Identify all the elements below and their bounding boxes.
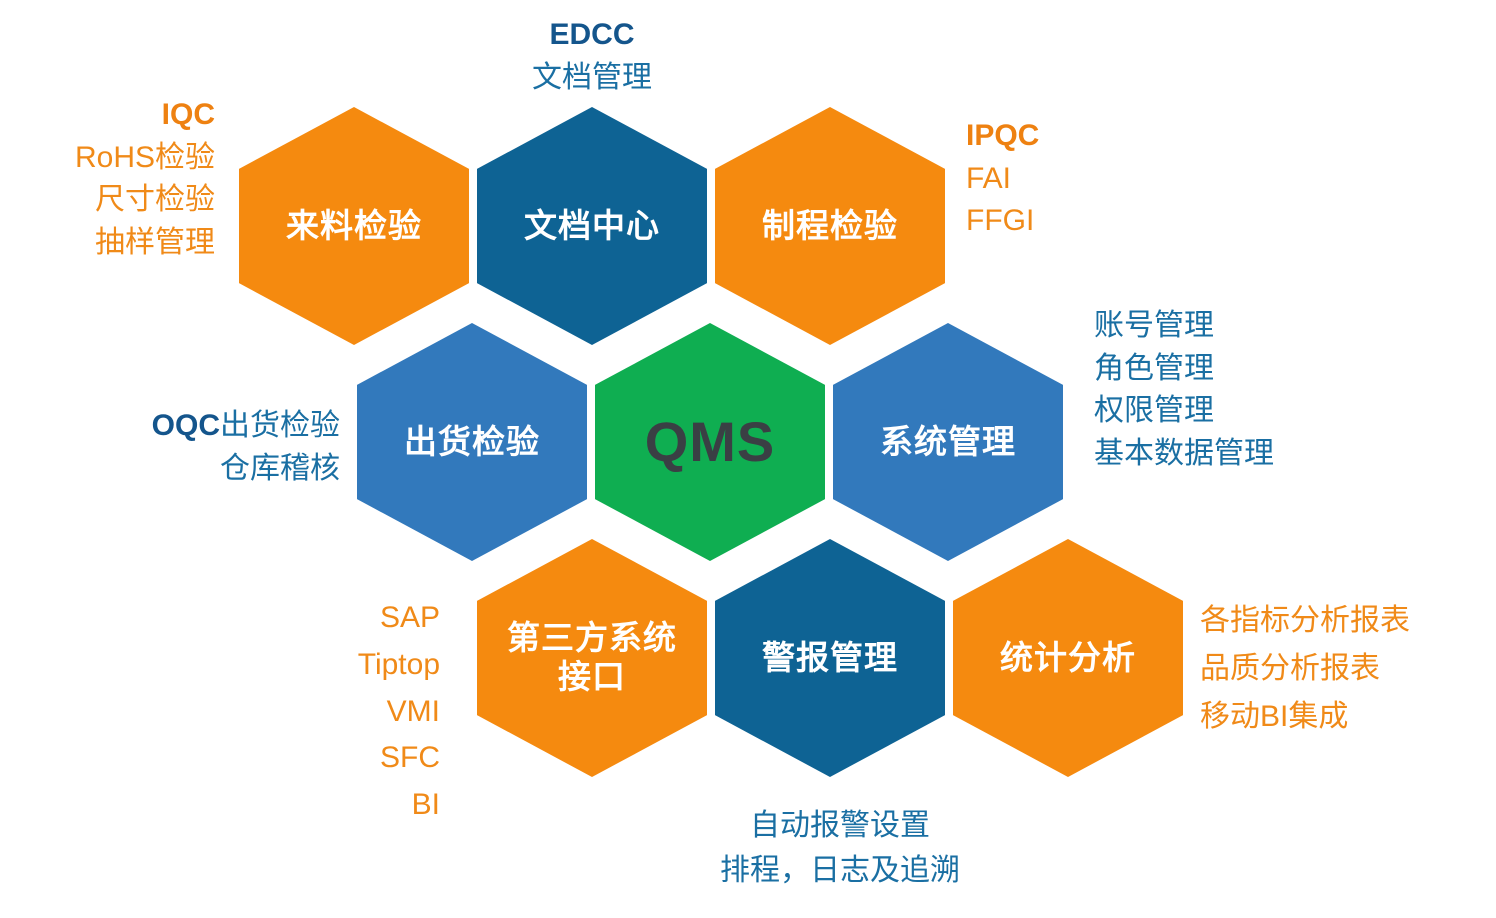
qms-architecture-diagram: 来料检验 文档中心 制程检验 出货检验 QMS 系统管理 第三方系统接口 警报管… <box>0 0 1496 918</box>
note-oqc-line-1: OQC出货检验 <box>30 405 340 448</box>
note-iqc: IQC RoHS检验 尺寸检验 抽样管理 <box>0 94 215 264</box>
note-edcc: EDCC 文档管理 <box>447 14 737 99</box>
note-oqc-heading-suffix: 出货检验 <box>220 409 340 442</box>
note-system-management-line-4: 基本数据管理 <box>1094 433 1424 476</box>
note-ipqc-line-2: FFGI <box>966 200 1186 243</box>
note-ipqc-line-1: FAI <box>966 158 1186 201</box>
note-statistics-line-1: 各指标分析报表 <box>1200 597 1490 645</box>
hexagon-outgoing-inspection[interactable]: 出货检验 <box>357 323 587 561</box>
note-alarm-line-1: 自动报警设置 <box>655 803 1025 848</box>
note-third-party-line-3: VMI <box>250 689 440 736</box>
hexagon-label-statistical-analysis: 统计分析 <box>986 639 1150 678</box>
note-third-party: SAP Tiptop VMI SFC BI <box>250 595 440 829</box>
note-ipqc: IPQC FAI FFGI <box>966 115 1186 243</box>
note-edcc-line-1: 文档管理 <box>447 57 737 100</box>
note-ipqc-heading: IPQC <box>966 115 1186 158</box>
hexagon-label-document-center: 文档中心 <box>510 207 674 246</box>
hexagon-alarm-management[interactable]: 警报管理 <box>715 539 945 777</box>
hexagon-label-outgoing-inspection: 出货检验 <box>390 423 554 462</box>
note-statistics-line-2: 品质分析报表 <box>1200 645 1490 693</box>
hexagon-label-third-party-interface: 第三方系统接口 <box>493 619 691 697</box>
hexagon-label-qms-core: QMS <box>631 409 790 475</box>
note-system-management: 账号管理 角色管理 权限管理 基本数据管理 <box>1094 305 1424 475</box>
hexagon-process-inspection[interactable]: 制程检验 <box>715 107 945 345</box>
hexagon-label-process-inspection: 制程检验 <box>748 207 912 246</box>
note-alarm-line-2: 排程，日志及追溯 <box>655 848 1025 893</box>
note-third-party-line-5: BI <box>250 782 440 829</box>
hexagon-incoming-inspection[interactable]: 来料检验 <box>239 107 469 345</box>
note-third-party-line-1: SAP <box>250 595 440 642</box>
hexagon-label-system-management: 系统管理 <box>866 423 1030 462</box>
note-third-party-line-4: SFC <box>250 735 440 782</box>
note-statistics: 各指标分析报表 品质分析报表 移动BI集成 <box>1200 597 1490 741</box>
hexagon-label-incoming-inspection: 来料检验 <box>272 207 436 246</box>
note-oqc-heading: OQC <box>152 409 220 442</box>
note-oqc: OQC出货检验 仓库稽核 <box>30 405 340 490</box>
note-iqc-line-1: RoHS检验 <box>0 137 215 180</box>
note-third-party-line-2: Tiptop <box>250 642 440 689</box>
note-iqc-heading: IQC <box>0 94 215 137</box>
note-system-management-line-3: 权限管理 <box>1094 390 1424 433</box>
note-system-management-line-2: 角色管理 <box>1094 348 1424 391</box>
note-alarm: 自动报警设置 排程，日志及追溯 <box>655 803 1025 893</box>
hexagon-document-center[interactable]: 文档中心 <box>477 107 707 345</box>
note-iqc-line-3: 抽样管理 <box>0 222 215 265</box>
hexagon-third-party-interface[interactable]: 第三方系统接口 <box>477 539 707 777</box>
hexagon-qms-core[interactable]: QMS <box>595 323 825 561</box>
hexagon-label-alarm-management: 警报管理 <box>748 639 912 678</box>
note-oqc-line-2: 仓库稽核 <box>30 448 340 491</box>
note-iqc-line-2: 尺寸检验 <box>0 179 215 222</box>
note-edcc-heading: EDCC <box>447 14 737 57</box>
note-system-management-line-1: 账号管理 <box>1094 305 1424 348</box>
hexagon-system-management[interactable]: 系统管理 <box>833 323 1063 561</box>
hexagon-statistical-analysis[interactable]: 统计分析 <box>953 539 1183 777</box>
note-statistics-line-3: 移动BI集成 <box>1200 693 1490 741</box>
